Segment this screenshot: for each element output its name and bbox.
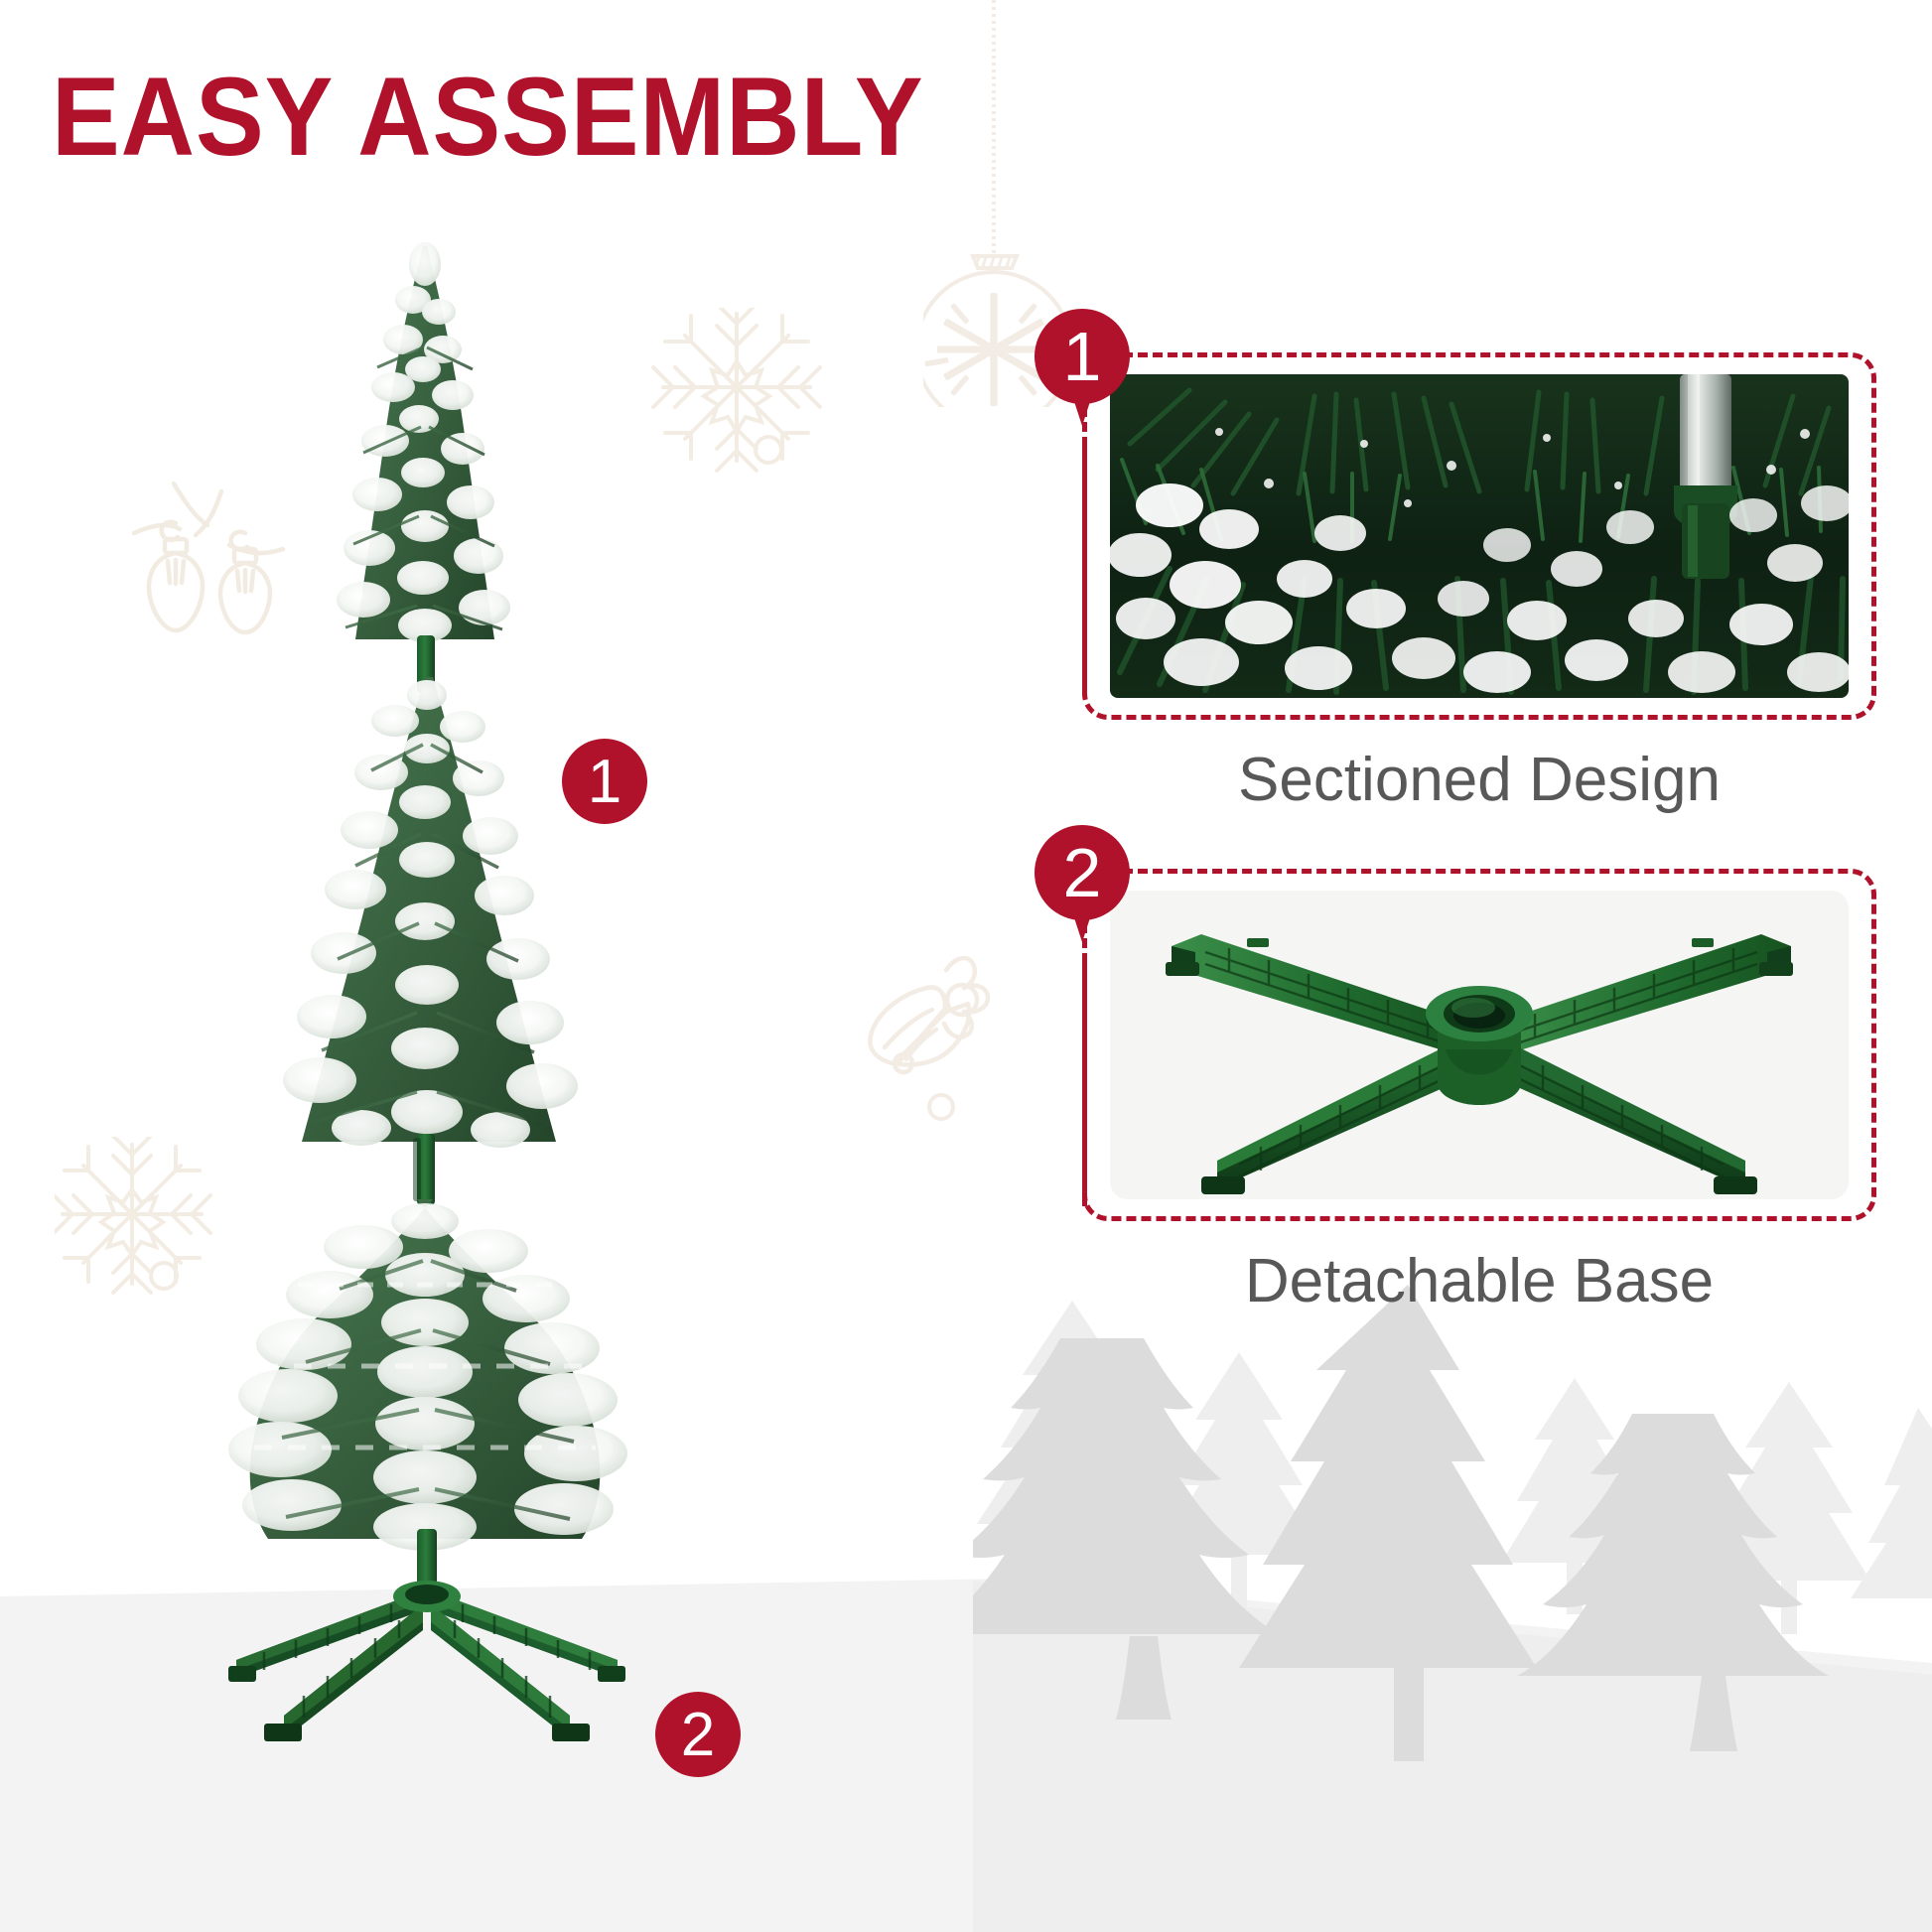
callout-1-caption: Sectioned Design: [1082, 750, 1876, 811]
callout-panel-2: 2: [1082, 869, 1876, 1221]
callout-1-leader-line: [1082, 447, 1087, 695]
callout-1-badge-number: 1: [1035, 309, 1130, 404]
callout-2-badge[interactable]: 2: [1035, 825, 1130, 944]
hero-product-image: [228, 228, 784, 1817]
callout-2-leader-line: [1082, 963, 1087, 1206]
infographic-canvas: EASY ASSEMBLY: [0, 0, 1932, 1932]
callout-2-caption: Detachable Base: [1082, 1251, 1876, 1312]
callout-1-dashed-frame: [1082, 352, 1876, 720]
hero-marker-2[interactable]: 2: [655, 1692, 741, 1777]
callout-2-dashed-frame: [1082, 869, 1876, 1221]
hero-marker-1[interactable]: 1: [562, 739, 647, 824]
callout-1-badge[interactable]: 1: [1035, 309, 1130, 428]
callout-2-badge-number: 2: [1035, 825, 1130, 920]
bell-icon: [849, 928, 1037, 1122]
pine-forest-silhouette: [973, 1221, 1932, 1932]
page-title: EASY ASSEMBLY: [52, 62, 924, 173]
callout-panel-1: 1: [1082, 352, 1876, 720]
snowflake-icon-left: [55, 1137, 253, 1325]
